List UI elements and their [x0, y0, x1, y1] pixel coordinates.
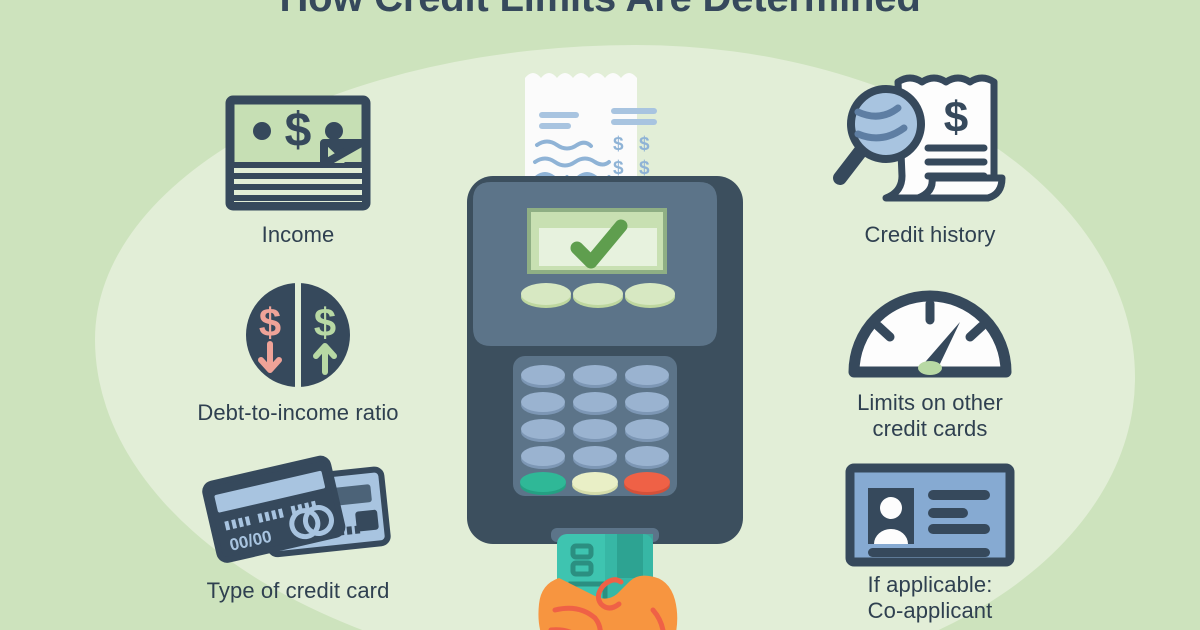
gauge-speedometer-icon	[780, 288, 1080, 380]
cash-banknote-icon: $	[138, 92, 458, 212]
factor-other-limits-label: Limits on other credit cards	[780, 390, 1080, 441]
svg-text:$: $	[314, 301, 336, 345]
factor-debt-to-income: $ $ Debt-to-income ratio	[138, 270, 458, 426]
hand-inserting-card-icon	[538, 534, 677, 630]
factor-credit-history-label: Credit history	[780, 222, 1080, 248]
factor-coapplicant-line1: If applicable:	[780, 572, 1080, 598]
factor-other-limits-line2: credit cards	[780, 416, 1080, 442]
factor-coapplicant: If applicable: Co-applicant	[780, 462, 1080, 623]
id-card-icon	[780, 462, 1080, 562]
svg-text:$: $	[613, 134, 624, 155]
factor-income-label: Income	[138, 222, 458, 248]
terminal-screen	[527, 208, 667, 274]
factor-coapplicant-line2: Co-applicant	[780, 598, 1080, 624]
svg-text:$: $	[639, 158, 650, 179]
page-title: How Credit Limits Are Determined	[0, 0, 1200, 21]
dollar-split-circle-icon: $ $	[138, 270, 458, 390]
svg-text:$: $	[259, 301, 281, 345]
magnifier-document-icon: $	[780, 72, 1080, 212]
svg-text:$: $	[613, 158, 624, 179]
factor-coapplicant-label: If applicable: Co-applicant	[780, 572, 1080, 623]
factor-credit-history: $ Credit history	[780, 72, 1080, 248]
factor-card-type: 00/00 Type of credit card	[138, 448, 458, 604]
svg-text:$: $	[285, 104, 312, 157]
terminal-keypad	[513, 356, 677, 496]
infographic-canvas: How Credit Limits Are Determined $	[0, 0, 1200, 630]
card-payment-terminal: $$ $$ $	[455, 50, 755, 630]
factor-income: $ Income	[138, 92, 458, 248]
factor-other-limits-line1: Limits on other	[780, 390, 1080, 416]
soft-key-row	[521, 283, 675, 308]
factor-card-type-label: Type of credit card	[138, 578, 458, 604]
svg-text:$: $	[944, 93, 968, 142]
credit-cards-stack-icon: 00/00	[138, 448, 458, 568]
factor-other-limits: Limits on other credit cards	[780, 288, 1080, 441]
svg-text:$: $	[639, 134, 650, 155]
factor-debt-to-income-label: Debt-to-income ratio	[138, 400, 458, 426]
